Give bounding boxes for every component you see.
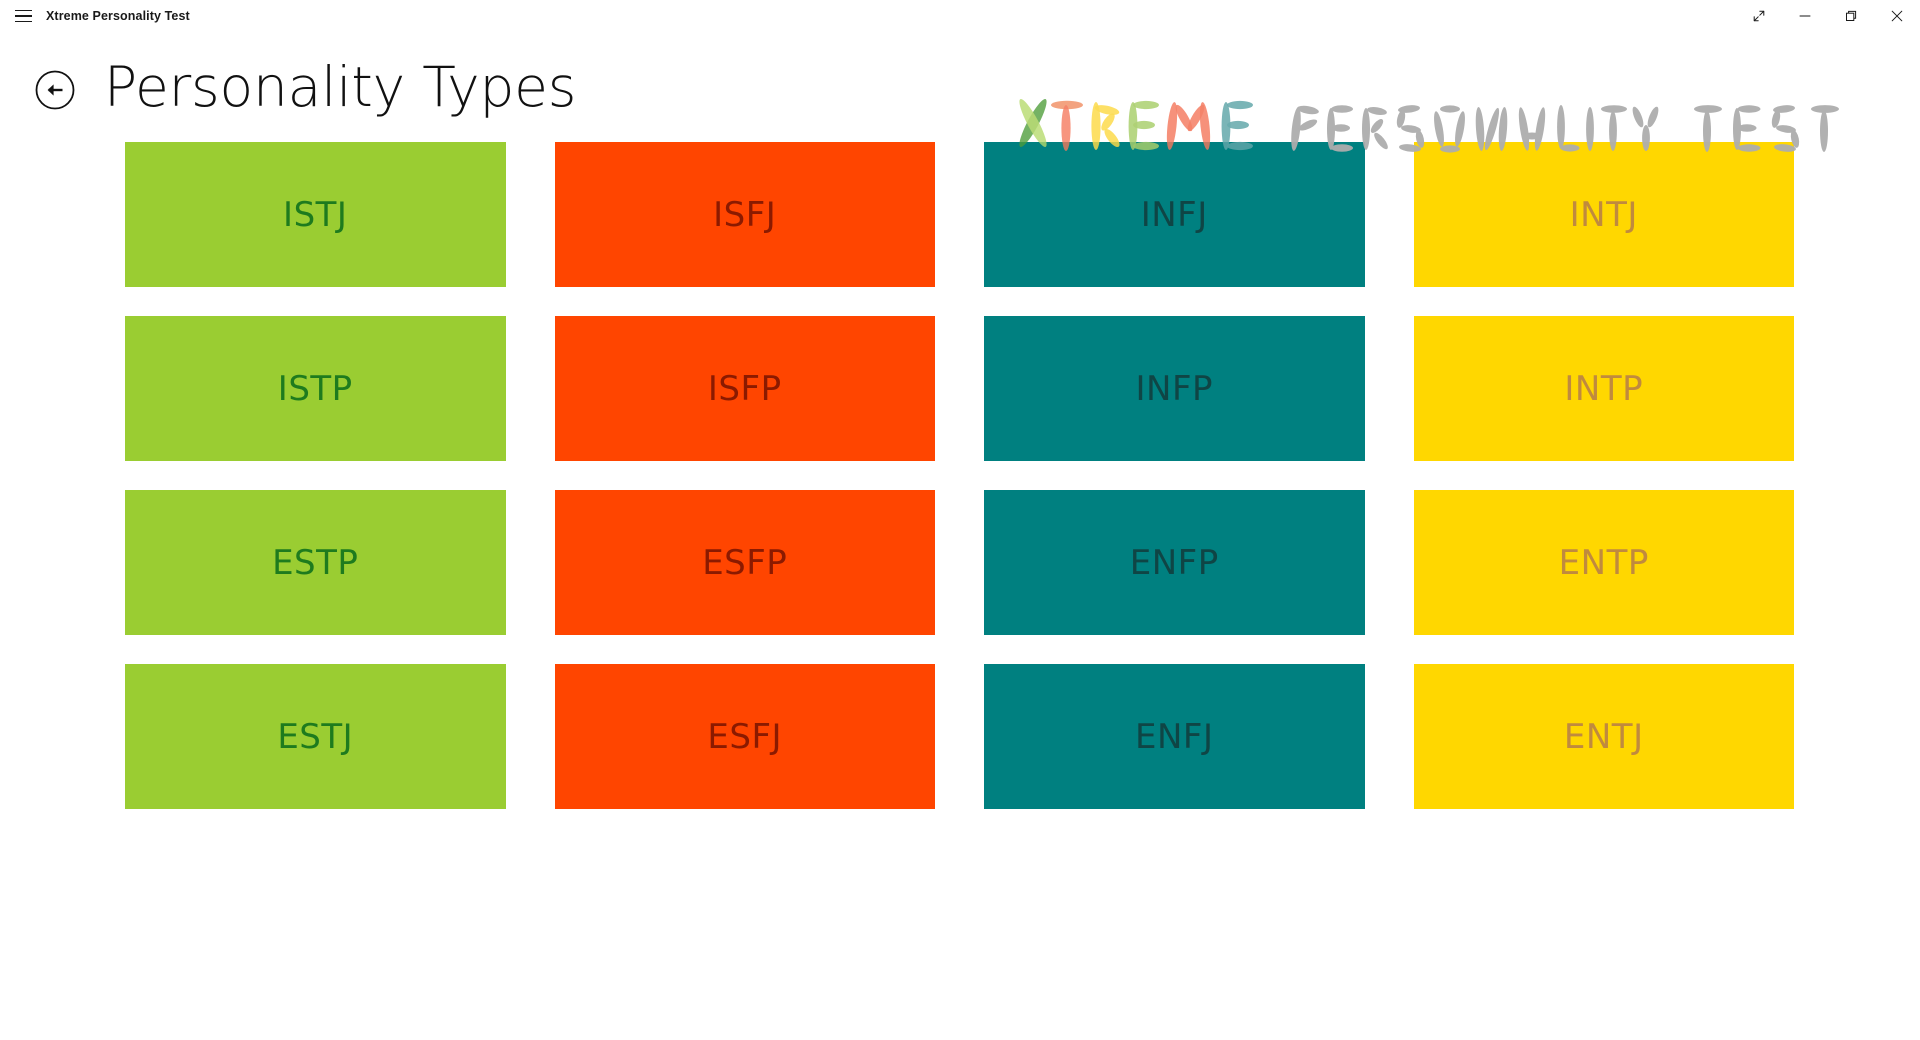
restore-icon bbox=[1845, 10, 1857, 22]
minimize-icon bbox=[1799, 10, 1811, 22]
personality-type-tile-infp[interactable]: INFP bbox=[984, 316, 1365, 461]
window-title: Xtreme Personality Test bbox=[46, 9, 190, 23]
page-title: Personality Types bbox=[104, 60, 576, 115]
personality-type-label: ENTJ bbox=[1564, 720, 1644, 754]
personality-type-label: INTJ bbox=[1570, 198, 1638, 232]
personality-type-label: ESFP bbox=[702, 546, 787, 580]
window-controls bbox=[1736, 0, 1920, 32]
hamburger-icon[interactable] bbox=[0, 0, 46, 32]
personality-type-tile-enfj[interactable]: ENFJ bbox=[984, 664, 1365, 809]
personality-type-tile-isfj[interactable]: ISFJ bbox=[555, 142, 936, 287]
personality-type-tile-estj[interactable]: ESTJ bbox=[125, 664, 506, 809]
page-header: Personality Types bbox=[0, 32, 1920, 142]
close-icon bbox=[1891, 10, 1903, 22]
personality-type-label: INTP bbox=[1564, 372, 1643, 406]
personality-type-label: ESFJ bbox=[707, 720, 782, 754]
fullscreen-button[interactable] bbox=[1736, 0, 1782, 32]
personality-type-tile-enfp[interactable]: ENFP bbox=[984, 490, 1365, 635]
close-button[interactable] bbox=[1874, 0, 1920, 32]
personality-type-tile-istp[interactable]: ISTP bbox=[125, 316, 506, 461]
personality-type-tile-intj[interactable]: INTJ bbox=[1414, 142, 1795, 287]
personality-types-grid: ISTJISFJINFJINTJISTPISFPINFPINTPESTPESFP… bbox=[125, 142, 1794, 809]
minimize-button[interactable] bbox=[1782, 0, 1828, 32]
personality-type-tile-infj[interactable]: INFJ bbox=[984, 142, 1365, 287]
personality-type-label: ENTP bbox=[1559, 546, 1649, 580]
personality-type-tile-esfj[interactable]: ESFJ bbox=[555, 664, 936, 809]
maximize-button[interactable] bbox=[1828, 0, 1874, 32]
personality-type-label: INFJ bbox=[1141, 198, 1208, 232]
personality-type-label: ESTJ bbox=[277, 720, 353, 754]
personality-type-label: ENFJ bbox=[1135, 720, 1214, 754]
diagonal-arrows-icon bbox=[1753, 10, 1765, 22]
back-arrow-circle-icon bbox=[33, 68, 77, 112]
personality-type-tile-isfp[interactable]: ISFP bbox=[555, 316, 936, 461]
personality-type-tile-intp[interactable]: INTP bbox=[1414, 316, 1795, 461]
personality-type-tile-esfp[interactable]: ESFP bbox=[555, 490, 936, 635]
personality-type-label: INFP bbox=[1135, 372, 1213, 406]
personality-types-grid-wrapper: ISTJISFJINFJINTJISTPISFPINFPINTPESTPESFP… bbox=[0, 142, 1920, 809]
personality-type-label: ISTJ bbox=[283, 198, 347, 232]
personality-type-tile-estp[interactable]: ESTP bbox=[125, 490, 506, 635]
personality-type-tile-entj[interactable]: ENTJ bbox=[1414, 664, 1795, 809]
back-button[interactable] bbox=[32, 67, 78, 113]
personality-type-label: ISTP bbox=[278, 372, 353, 406]
personality-type-label: ISFJ bbox=[713, 198, 776, 232]
personality-type-tile-entp[interactable]: ENTP bbox=[1414, 490, 1795, 635]
window-titlebar: Xtreme Personality Test bbox=[0, 0, 1920, 32]
personality-type-label: ISFP bbox=[708, 372, 782, 406]
personality-type-label: ESTP bbox=[272, 546, 358, 580]
personality-type-tile-istj[interactable]: ISTJ bbox=[125, 142, 506, 287]
personality-type-label: ENFP bbox=[1130, 546, 1219, 580]
